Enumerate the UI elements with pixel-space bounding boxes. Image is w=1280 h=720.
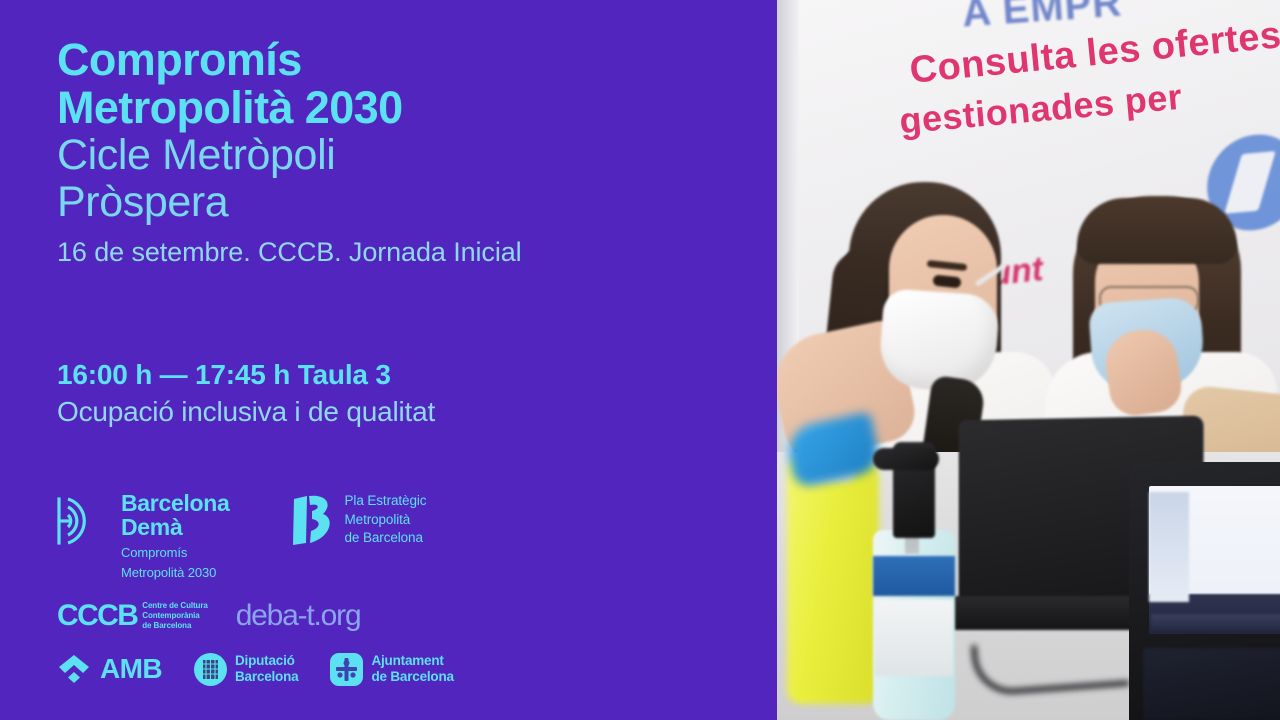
laptop-foreground-taskbar (1151, 614, 1280, 630)
logo-row-secondary: CCCB Centre de Cultura Contemporània de … (57, 601, 360, 631)
spray-bottle-yellow (787, 456, 879, 704)
pemb-line-3: de Barcelona (345, 530, 423, 545)
poster-canvas: Compromís Metropolità 2030 Cicle Metròpo… (0, 0, 1280, 720)
info-panel: Compromís Metropolità 2030 Cicle Metròpo… (0, 0, 777, 720)
session-topic: Ocupació inclusiva i de qualitat (57, 394, 757, 429)
person-right-bangs (1077, 198, 1237, 264)
cccb-tag-line-3: de Barcelona (142, 621, 191, 630)
session-time: 16:00 h — 17:45 h Taula 3 (57, 357, 757, 392)
logo-diputacio-barcelona: Diputació Barcelona (194, 653, 298, 686)
pemb-line-1: Pla Estratègic (345, 493, 427, 508)
event-photograph: A EMPR Consulta les ofertes gestionades … (777, 0, 1280, 720)
pemb-text: Pla Estratègic Metropolità de Barcelona (345, 492, 427, 548)
rounded-square-cross-icon (330, 653, 363, 686)
title-line-2: Metropolità 2030 (57, 84, 767, 132)
diputacio-text: Diputació Barcelona (235, 653, 298, 685)
laptop-foreground-keyboard (1143, 648, 1280, 720)
sanitizer-bottle-band (873, 556, 955, 596)
circular-seal-icon (194, 653, 227, 686)
logo-debat-org: deba-t.org (236, 601, 361, 631)
cccb-tagline: Centre de Cultura Contemporània de Barce… (142, 601, 207, 631)
bd-tagline-line-1: Compromís (121, 545, 230, 560)
diputacio-line-1: Diputació (235, 653, 295, 668)
cccb-tag-line-2: Contemporània (142, 611, 199, 620)
amb-wordmark: AMB (100, 655, 162, 683)
logo-pemb: Pla Estratègic Metropolità de Barcelona (290, 492, 427, 548)
logo-row-primary: Barcelona Demà Compromís Metropolità 203… (54, 492, 426, 580)
title-line-4: Pròspera (57, 179, 767, 226)
event-date-venue: 16 de setembre. CCCB. Jornada Inicial (57, 236, 767, 270)
laptop-foreground-sidebar (1149, 492, 1189, 602)
barcelona-dema-text: Barcelona Demà Compromís Metropolità 203… (121, 492, 230, 580)
stylized-b-icon (290, 493, 334, 547)
ajuntament-line-2: de Barcelona (371, 669, 453, 684)
bd-name-line-2: Demà (121, 516, 230, 540)
logo-barcelona-dema: Barcelona Demà Compromís Metropolità 203… (54, 492, 230, 580)
title-line-3: Cicle Metròpoli (57, 132, 767, 179)
cccb-wordmark: CCCB (57, 601, 137, 631)
concentric-arcs-b-icon (54, 494, 108, 548)
cccb-tag-line-1: Centre de Cultura (142, 601, 207, 610)
sanitizer-pump-nozzle (873, 448, 939, 470)
bd-tagline-line-2: Metropolità 2030 (121, 565, 230, 580)
logo-ajuntament-barcelona: Ajuntament de Barcelona (330, 653, 453, 686)
diputacio-line-2: Barcelona (235, 669, 298, 684)
sanitizer-bottle-label (875, 600, 953, 676)
logo-amb: AMB (57, 652, 162, 686)
title-line-1: Compromís (57, 36, 767, 84)
chevron-diamond-icon (57, 652, 91, 686)
logo-cccb: CCCB Centre de Cultura Contemporània de … (57, 601, 208, 631)
session-block: 16:00 h — 17:45 h Taula 3 Ocupació inclu… (57, 357, 757, 429)
ajuntament-text: Ajuntament de Barcelona (371, 653, 453, 685)
logo-row-institutions: AMB Diputació Barcelona (57, 652, 454, 686)
ajuntament-line-1: Ajuntament (371, 653, 443, 668)
bd-name-line-1: Barcelona (121, 492, 230, 516)
desk-cable (971, 635, 1129, 697)
pemb-line-2: Metropolità (345, 512, 411, 527)
title-block: Compromís Metropolità 2030 Cicle Metròpo… (57, 36, 767, 270)
